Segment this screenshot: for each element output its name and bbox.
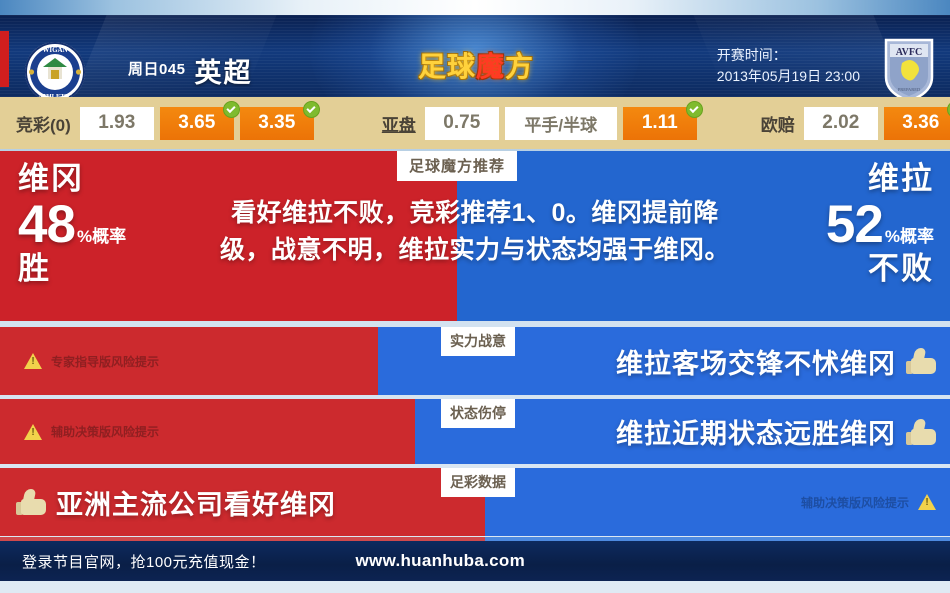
wigan-athletic-crest-icon: WIGAN ATHLETIC bbox=[24, 41, 86, 97]
row-headline-text: 维拉近期状态远胜维冈 bbox=[616, 412, 896, 451]
row-headline-text: 亚洲主流公司看好维冈 bbox=[56, 483, 336, 522]
odds-bar: 竞彩(0) 1.93 3.65 3.35 亚盘 0.75 平手/半球 1.11 … bbox=[0, 97, 950, 149]
thumbs-up-icon bbox=[906, 419, 936, 445]
odds-value: 0.75 bbox=[443, 112, 480, 134]
footer-separator-blue bbox=[485, 537, 950, 541]
check-icon bbox=[303, 101, 320, 118]
thumbs-up-icon bbox=[906, 348, 936, 374]
odds-group-label: 竞彩(0) bbox=[16, 111, 71, 136]
top-gradient-strip bbox=[0, 0, 950, 15]
match-number: 周日045 bbox=[128, 61, 186, 78]
analysis-row-lottery-data: 亚洲主流公司看好维冈 辅助决策版风险提示 足彩数据 bbox=[0, 468, 950, 536]
thumbs-up-icon bbox=[16, 489, 46, 515]
row-headline: 维拉客场交锋不怵维冈 bbox=[616, 342, 936, 381]
screenshot-root: WIGAN ATHLETIC 周日045英超 足球魔方 开赛时间： 2013年0… bbox=[0, 0, 950, 593]
odds-value: 平手/半球 bbox=[524, 111, 597, 136]
odds-cell-handicap[interactable]: 平手/半球 bbox=[505, 107, 617, 140]
recommendation-text: 看好维拉不败，竞彩推荐1、0。维冈提前降级，战意不明，维拉实力与状态均强于维冈。 bbox=[0, 195, 950, 269]
svg-text:AVFC: AVFC bbox=[896, 47, 922, 58]
footer-bar: 登录节目官网，抢100元充值现金！ www.huanhuba.com bbox=[0, 541, 950, 581]
odds-cell-draw[interactable]: 3.36 bbox=[884, 107, 950, 140]
risk-notice-assist: 辅助决策版风险提示 bbox=[24, 423, 159, 440]
odds-group-label: 亚盘 bbox=[382, 111, 416, 136]
match-title-block: 周日045英超 bbox=[128, 51, 253, 90]
row-headline: 维拉近期状态远胜维冈 bbox=[616, 412, 936, 451]
odds-value: 3.35 bbox=[258, 112, 295, 134]
home-team-name: 维冈 bbox=[18, 163, 126, 194]
row-right-blue-panel: 辅助决策版风险提示 bbox=[485, 468, 950, 536]
league-name: 英超 bbox=[195, 58, 253, 88]
footer-promo-text: 登录节目官网，抢100元充值现金！ bbox=[22, 551, 266, 572]
footer-separator-red bbox=[0, 537, 485, 541]
svg-text:ATHLETIC: ATHLETIC bbox=[38, 93, 72, 97]
odds-cell-home[interactable]: 1.93 bbox=[80, 107, 154, 140]
risk-notice-label: 辅助决策版风险提示 bbox=[801, 494, 909, 511]
odds-cell-away[interactable]: 1.11 bbox=[623, 107, 697, 140]
odds-group-oupei: 欧赔 2.02 3.36 3.54 bbox=[761, 107, 950, 140]
analysis-row-strength: 专家指导版风险提示 维拉客场交锋不怵维冈 实力战意 bbox=[0, 327, 950, 395]
analysis-row-form: 辅助决策版风险提示 维拉近期状态远胜维冈 状态伤停 bbox=[0, 399, 950, 464]
odds-cell-away[interactable]: 3.35 bbox=[240, 107, 314, 140]
footer-separator bbox=[0, 537, 950, 541]
odds-cell-home[interactable]: 2.02 bbox=[804, 107, 878, 140]
aston-villa-crest-icon: AVFC PREPARED bbox=[882, 37, 936, 97]
brand-logo: 足球魔方 bbox=[418, 45, 534, 85]
prediction-hero: 维冈 48%概率 胜 维拉 52%概率 不败 足球魔方推荐 看好维拉不败，竞彩推… bbox=[0, 151, 950, 321]
brand-logo-part3: 方 bbox=[505, 51, 534, 82]
odds-group-yapan: 亚盘 0.75 平手/半球 1.11 bbox=[382, 107, 703, 140]
row-left-red-panel: 专家指导版风险提示 bbox=[0, 327, 378, 395]
svg-text:WIGAN: WIGAN bbox=[42, 46, 67, 54]
kickoff-label: 开赛时间： bbox=[717, 45, 860, 66]
odds-group-jingcai: 竞彩(0) 1.93 3.65 3.35 bbox=[16, 107, 320, 140]
odds-cell-draw[interactable]: 3.65 bbox=[160, 107, 234, 140]
match-header: WIGAN ATHLETIC 周日045英超 足球魔方 开赛时间： 2013年0… bbox=[0, 15, 950, 97]
odds-group-label: 欧赔 bbox=[761, 111, 795, 136]
brand-logo-part2: 魔 bbox=[476, 51, 505, 82]
check-icon bbox=[686, 101, 703, 118]
odds-value: 2.02 bbox=[822, 112, 859, 134]
odds-value: 1.11 bbox=[642, 112, 678, 134]
row-headline-text: 维拉客场交锋不怵维冈 bbox=[616, 342, 896, 381]
risk-notice-label: 专家指导版风险提示 bbox=[51, 353, 159, 370]
hero-recommendation-tag: 足球魔方推荐 bbox=[397, 151, 517, 181]
row-category-tag: 实力战意 bbox=[441, 327, 515, 356]
footer-website-url[interactable]: www.huanhuba.com bbox=[356, 551, 525, 571]
svg-text:PREPARED: PREPARED bbox=[898, 87, 921, 92]
kickoff-value: 2013年05月19日 23:00 bbox=[717, 66, 860, 87]
row-left-red-panel: 亚洲主流公司看好维冈 bbox=[0, 468, 485, 536]
row-headline: 亚洲主流公司看好维冈 bbox=[16, 483, 336, 522]
warning-triangle-icon bbox=[24, 353, 42, 369]
odds-value: 3.65 bbox=[178, 112, 215, 134]
risk-notice-assist: 辅助决策版风险提示 bbox=[801, 494, 936, 511]
header-red-accent-bar bbox=[0, 31, 9, 87]
row-category-tag: 足彩数据 bbox=[441, 468, 515, 497]
risk-notice-expert: 专家指导版风险提示 bbox=[24, 353, 159, 370]
odds-value: 1.93 bbox=[98, 112, 135, 134]
check-icon bbox=[223, 101, 240, 118]
warning-triangle-icon bbox=[918, 494, 936, 510]
kickoff-time-block: 开赛时间： 2013年05月19日 23:00 bbox=[717, 45, 860, 87]
row-category-tag: 状态伤停 bbox=[441, 399, 515, 428]
away-team-name: 维拉 bbox=[826, 163, 934, 194]
warning-triangle-icon bbox=[24, 424, 42, 440]
odds-value: 3.36 bbox=[902, 112, 939, 134]
risk-notice-label: 辅助决策版风险提示 bbox=[51, 423, 159, 440]
brand-logo-part1: 足球 bbox=[418, 51, 476, 82]
odds-cell-home[interactable]: 0.75 bbox=[425, 107, 499, 140]
row-left-red-panel: 辅助决策版风险提示 bbox=[0, 399, 415, 464]
